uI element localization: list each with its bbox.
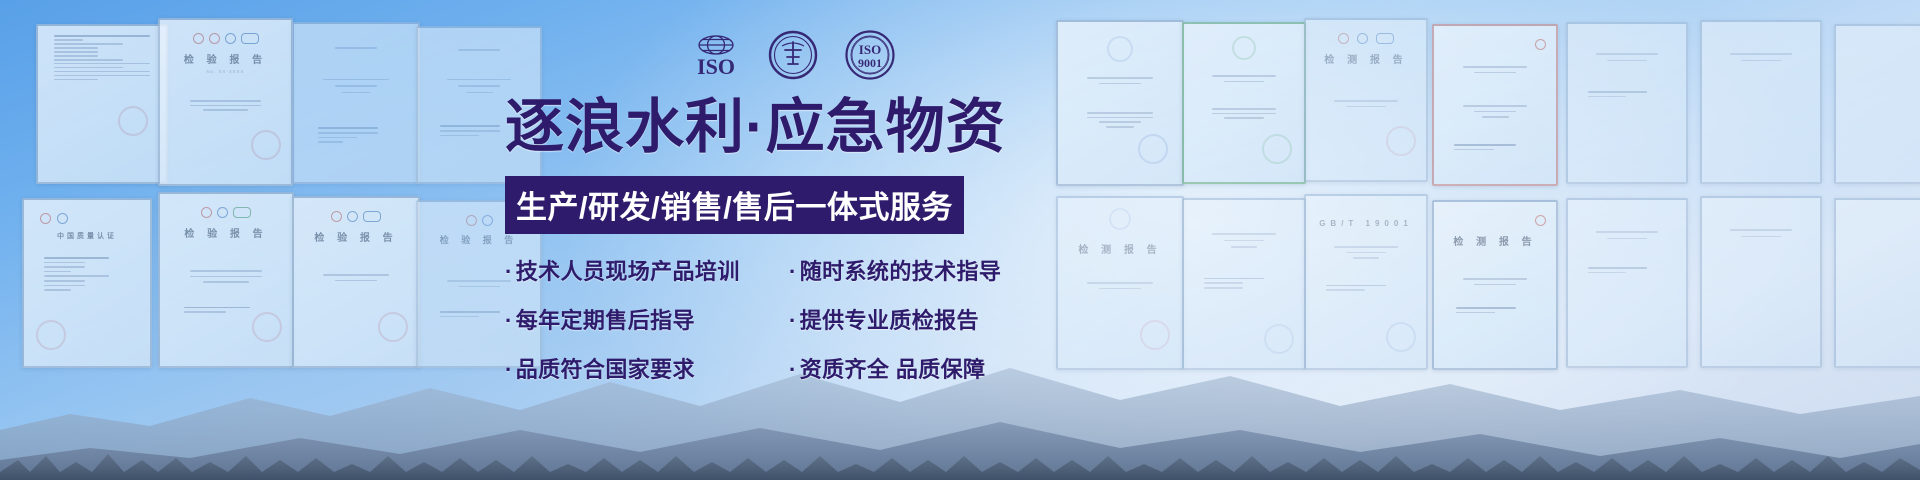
feature-item: ·技术人员现场产品培训 [505, 254, 783, 286]
feature-item: ·提供专业质检报告 [789, 303, 1085, 335]
certificate-thumbnail: 检 测 报 告 [1304, 18, 1428, 182]
bullet-icon: · [789, 308, 797, 333]
feature-label: 技术人员现场产品培训 [516, 259, 740, 284]
certificate-title: 检 验 报 告 [170, 51, 281, 66]
feature-item: ·每年定期售后指导 [505, 303, 783, 335]
certificate-subtitle: No. XX-XXXX [170, 69, 281, 74]
feature-label: 每年定期售后指导 [516, 308, 695, 333]
certificate-thumbnail [36, 24, 168, 184]
bullet-icon: · [505, 357, 513, 382]
certificate-title: 检 测 报 告 [1444, 233, 1546, 248]
iso-9001-cqc-logo: ISO 9001 [844, 30, 896, 80]
certificate-thumbnail: 检 验 报 告 No. XX-XXXX [158, 18, 293, 186]
certificate-title: 中国质量认证 [34, 231, 140, 241]
feature-item: ·随时系统的技术指导 [789, 254, 1085, 286]
feature-label: 资质齐全 品质保障 [800, 357, 986, 382]
certificate-thumbnail [1432, 24, 1558, 186]
feature-item: ·资质齐全 品质保障 [789, 352, 1085, 384]
banner-content: 逐浪水利·应急物资 生产/研发/销售/售后一体式服务 ·技术人员现场产品培训 ·… [505, 96, 1085, 384]
certificate-title: 检 测 报 告 [1316, 51, 1416, 66]
certificate-title: 检 验 报 告 [170, 225, 282, 240]
certification-logo-group: ISO ISO 9001 [690, 30, 896, 80]
bullet-icon: · [789, 259, 797, 284]
certificate-thumbnail [1566, 22, 1688, 184]
quality-badge-logo [768, 30, 818, 80]
promotional-banner: 检 验 报 告 No. XX-XXXX [0, 0, 1920, 480]
banner-subtitle-bar: 生产/研发/销售/售后一体式服务 [505, 176, 964, 234]
certificate-title: 检 验 报 告 [304, 229, 408, 244]
feature-label: 品质符合国家要求 [516, 357, 695, 382]
bullet-icon: · [505, 308, 513, 333]
banner-headline: 逐浪水利·应急物资 [505, 96, 1085, 160]
certificate-title: GB/T 19001 [1316, 219, 1416, 228]
iso-logo: ISO [690, 31, 742, 79]
bullet-icon: · [789, 357, 797, 382]
certificate-thumbnail [1182, 22, 1306, 184]
feature-label: 随时系统的技术指导 [800, 259, 1002, 284]
iso-9001-label-top: ISO [859, 42, 881, 57]
bullet-icon: · [505, 259, 513, 284]
certificate-thumbnail [1700, 20, 1822, 184]
iso-9001-label-bottom: 9001 [858, 56, 882, 70]
feature-list: ·技术人员现场产品培训 ·随时系统的技术指导 ·每年定期售后指导 ·提供专业质检… [505, 254, 1085, 384]
certificate-thumbnail [292, 22, 420, 184]
feature-item: ·品质符合国家要求 [505, 352, 783, 384]
iso-logo-label: ISO [697, 54, 735, 79]
certificate-thumbnail [1834, 24, 1920, 184]
feature-label: 提供专业质检报告 [800, 308, 979, 333]
